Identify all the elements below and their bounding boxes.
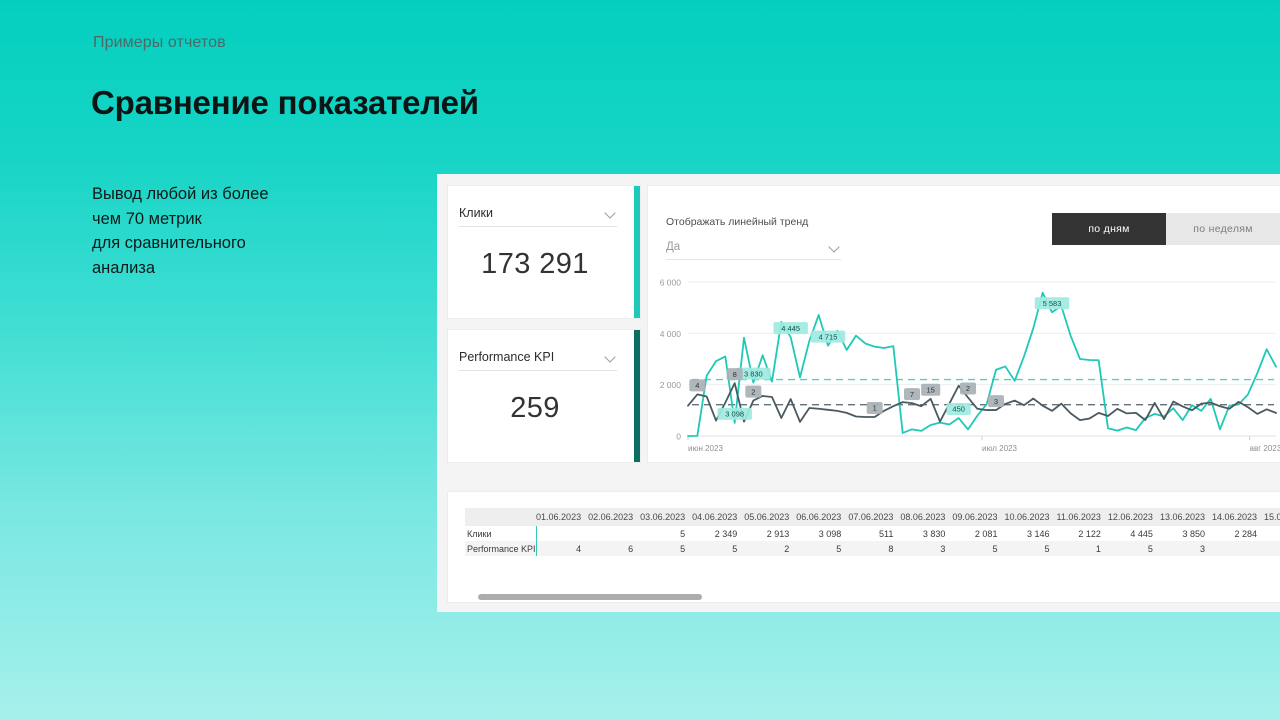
- table-column-header: 09.06.2023: [952, 508, 1004, 526]
- dashboard-panel: Клики 173 291 Performance KPI 259 Отобра…: [437, 174, 1280, 612]
- description-line: Вывод любой из более: [92, 182, 342, 207]
- table-row-header: Клики: [465, 526, 536, 541]
- slide-description: Вывод любой из более чем 70 метрик для с…: [92, 182, 342, 280]
- chart-card: Отображать линейный тренд Да по дням по …: [648, 186, 1280, 462]
- data-label-text: 5 583: [1043, 299, 1062, 308]
- table-cell: 4: [536, 541, 588, 556]
- chart-series-line: [688, 383, 1276, 422]
- table-cell: 2 913: [744, 526, 796, 541]
- table-cell: [536, 526, 588, 541]
- table-column-header: 04.06.2023: [692, 508, 744, 526]
- table-row: Клики52 3492 9133 0985113 8302 0813 1462…: [465, 526, 1280, 541]
- table-cell: 3 098: [796, 526, 848, 541]
- table-column-header: 06.06.2023: [796, 508, 848, 526]
- table-cell: 3: [900, 541, 952, 556]
- page-title: Сравнение показателей: [91, 84, 479, 122]
- period-toggle-group: по дням по неделям: [1052, 213, 1280, 245]
- table-cell: 5: [692, 541, 744, 556]
- table-column-header: 13.06.2023: [1160, 508, 1212, 526]
- table-cell: 5: [796, 541, 848, 556]
- data-label-text: 3 098: [725, 410, 744, 419]
- horizontal-scrollbar[interactable]: [478, 594, 702, 600]
- kpi-card-performance-kpi[interactable]: Performance KPI 259: [448, 330, 640, 462]
- table-corner-cell: [465, 508, 536, 526]
- chevron-down-icon: [606, 209, 617, 216]
- line-chart[interactable]: 02 0004 0006 000июн 2023июл 2023авг 2023…: [648, 274, 1280, 462]
- data-table: 01.06.202302.06.202303.06.202304.06.2023…: [465, 508, 1280, 556]
- table-column-header: 14.06.2023: [1212, 508, 1264, 526]
- x-axis-tick-label: авг 2023: [1250, 444, 1280, 453]
- data-label-text: 450: [952, 405, 965, 414]
- x-axis-tick-label: июн 2023: [688, 444, 723, 453]
- kpi-accent-bar: [634, 330, 640, 462]
- table-column-header: 12.06.2023: [1108, 508, 1160, 526]
- data-label-text: 3: [994, 397, 998, 406]
- slide-eyebrow: Примеры отчетов: [93, 34, 226, 52]
- table-cell: 5: [1108, 541, 1160, 556]
- table-cell: 6: [588, 541, 640, 556]
- kpi-value: 259: [448, 392, 622, 425]
- table-cell: 511: [848, 526, 900, 541]
- tab-by-days[interactable]: по дням: [1052, 213, 1166, 245]
- kpi-accent-bar: [634, 186, 640, 318]
- table-row: Performance KPI4655258355153: [465, 541, 1280, 556]
- kpi-card-column: Клики 173 291 Performance KPI 259: [448, 186, 640, 474]
- data-label-text: 7: [910, 390, 914, 399]
- dashboard-top-row: Клики 173 291 Performance KPI 259 Отобра…: [437, 174, 1280, 474]
- tab-by-weeks[interactable]: по неделям: [1166, 213, 1280, 245]
- table-cell: 2: [744, 541, 796, 556]
- table-cell: 3: [1160, 541, 1212, 556]
- metric-select-clicks[interactable]: Клики: [459, 199, 617, 227]
- data-label-text: 2: [751, 387, 755, 396]
- description-line: для сравнительного: [92, 231, 342, 256]
- data-label-text: 2: [966, 384, 970, 393]
- y-axis-tick-label: 0: [676, 432, 681, 442]
- x-axis-tick-label: июл 2023: [982, 444, 1018, 453]
- table-cell: 3 702: [1264, 526, 1280, 541]
- data-label-text: 8: [733, 370, 737, 379]
- table-cell: 5: [952, 541, 1004, 556]
- table-column-header: 15.06.2023: [1264, 508, 1280, 526]
- data-label-text: 4 445: [781, 324, 800, 333]
- kpi-card-clicks[interactable]: Клики 173 291: [448, 186, 640, 318]
- table-header-row: 01.06.202302.06.202303.06.202304.06.2023…: [465, 508, 1280, 526]
- trend-select-label: Отображать линейный тренд: [666, 216, 808, 228]
- metric-select-label: Performance KPI: [459, 350, 554, 364]
- table-cell: 8: [848, 541, 900, 556]
- table-cell: [588, 526, 640, 541]
- table-column-header: 07.06.2023: [848, 508, 900, 526]
- table-cell: [1212, 541, 1264, 556]
- metric-select-label: Клики: [459, 206, 493, 220]
- data-label-text: 3 830: [744, 369, 763, 378]
- table-cell: 1: [1057, 541, 1108, 556]
- table-cell: 5: [1004, 541, 1056, 556]
- data-label-text: 4: [695, 381, 699, 390]
- table-cell: 3 830: [900, 526, 952, 541]
- table-cell: 2 284: [1212, 526, 1264, 541]
- y-axis-tick-label: 6 000: [660, 278, 682, 288]
- kpi-value: 173 291: [448, 248, 622, 281]
- table-cell: 4 445: [1108, 526, 1160, 541]
- description-line: анализа: [92, 256, 342, 281]
- table-cell: 3 146: [1004, 526, 1056, 541]
- table-column-header: 03.06.2023: [640, 508, 692, 526]
- table-cell: 5: [640, 541, 692, 556]
- table-cell: 2 081: [952, 526, 1004, 541]
- table-column-header: 11.06.2023: [1057, 508, 1108, 526]
- table-cell: [1264, 541, 1280, 556]
- table-column-header: 05.06.2023: [744, 508, 796, 526]
- trend-select-value: Да: [666, 241, 680, 253]
- description-line: чем 70 метрик: [92, 207, 342, 232]
- table-cell: 5: [640, 526, 692, 541]
- chevron-down-icon: [830, 243, 841, 250]
- table-cell: 2 349: [692, 526, 744, 541]
- data-label-text: 15: [926, 385, 934, 394]
- table-row-header: Performance KPI: [465, 541, 536, 556]
- table-cell: 2 122: [1057, 526, 1108, 541]
- y-axis-tick-label: 2 000: [660, 380, 682, 390]
- data-label-text: 1: [873, 404, 877, 413]
- trend-select[interactable]: Да: [666, 234, 841, 260]
- data-label-text: 4 715: [819, 332, 838, 341]
- table-column-header: 02.06.2023: [588, 508, 640, 526]
- data-table-card: 01.06.202302.06.202303.06.202304.06.2023…: [448, 492, 1280, 602]
- chart-series-line: [688, 293, 1276, 436]
- table-column-header: 08.06.2023: [900, 508, 952, 526]
- chevron-down-icon: [606, 353, 617, 360]
- table-column-header: 01.06.2023: [536, 508, 588, 526]
- table-cell: 3 850: [1160, 526, 1212, 541]
- metric-select-performance-kpi[interactable]: Performance KPI: [459, 343, 617, 371]
- table-column-header: 10.06.2023: [1004, 508, 1056, 526]
- y-axis-tick-label: 4 000: [660, 329, 682, 339]
